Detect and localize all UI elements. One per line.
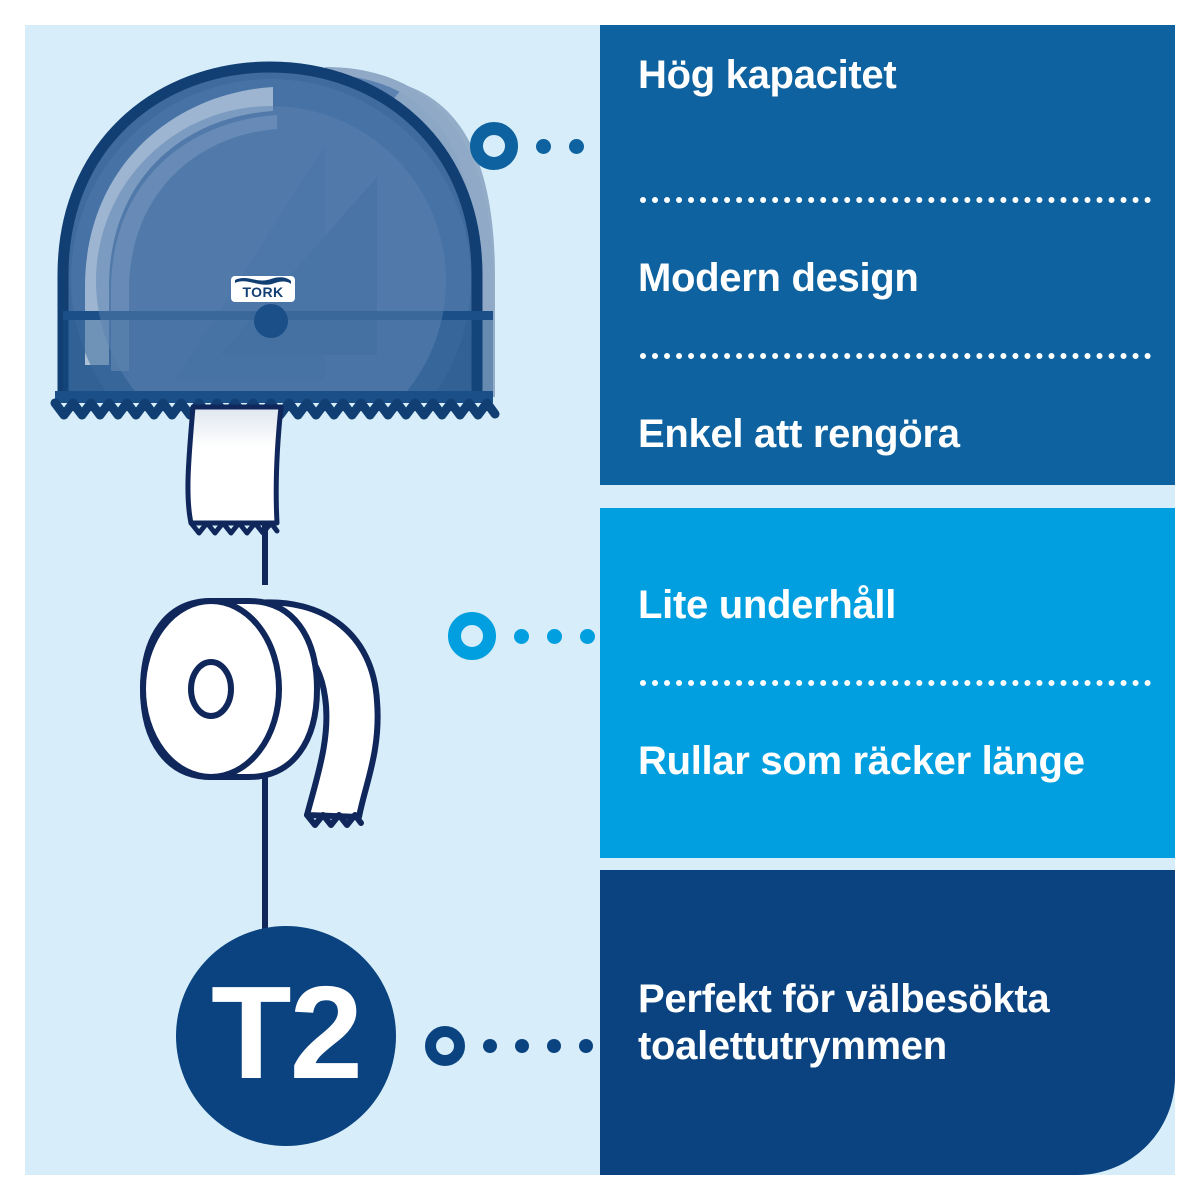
connector-dot bbox=[515, 1039, 529, 1053]
panel-maintenance: Lite underhåll Rullar som räcker länge bbox=[600, 508, 1175, 858]
spacer bbox=[638, 628, 1153, 680]
feature-easy-to-clean: Enkel att rengöra bbox=[638, 411, 1153, 457]
paper-roll-graphic bbox=[143, 601, 378, 825]
dispenser-graphic: TORK bbox=[25, 67, 495, 533]
feature-high-capacity: Hög kapacitet bbox=[638, 52, 1153, 98]
t2-system-badge: T2 bbox=[176, 926, 396, 1146]
connector-dot bbox=[580, 629, 595, 644]
connector-dot bbox=[569, 139, 584, 154]
t2-badge-label: T2 bbox=[211, 967, 361, 1099]
connector-ring-icon bbox=[448, 612, 496, 660]
svg-text:TORK: TORK bbox=[242, 284, 283, 300]
dispensed-sheet bbox=[188, 407, 281, 533]
spacer bbox=[638, 145, 1153, 197]
connector-dot bbox=[514, 629, 529, 644]
feature-long-lasting-rolls: Rullar som räcker länge bbox=[638, 738, 1153, 784]
feature-ideal-for-busy-washrooms: Perfekt för välbesökta toalettutrymmen bbox=[638, 976, 1153, 1069]
spacer bbox=[638, 301, 1153, 353]
connector-ring-icon bbox=[470, 122, 518, 170]
panel-capacity: Hög kapacitet Modern design Enkel att re… bbox=[600, 25, 1175, 485]
spacer bbox=[638, 686, 1153, 738]
connector-dot bbox=[547, 629, 562, 644]
infographic-canvas: TORK bbox=[0, 0, 1200, 1200]
spacer bbox=[638, 203, 1153, 255]
feature-modern-design: Modern design bbox=[638, 255, 1153, 301]
connector-dot bbox=[536, 139, 551, 154]
panel-maintenance-rows: Lite underhåll Rullar som räcker länge bbox=[638, 582, 1153, 785]
connector-dot bbox=[579, 1039, 593, 1053]
panel-usage-rows: Perfekt för välbesökta toalettutrymmen bbox=[638, 976, 1153, 1069]
connector-dot bbox=[483, 1039, 497, 1053]
spacer bbox=[638, 359, 1153, 411]
panel-capacity-rows: Hög kapacitet Modern design Enkel att re… bbox=[638, 52, 1153, 457]
feature-low-maintenance: Lite underhåll bbox=[638, 582, 1153, 628]
connector-dot bbox=[547, 1039, 561, 1053]
panel-usage: Perfekt för välbesökta toalettutrymmen bbox=[600, 870, 1175, 1175]
tork-logo: TORK bbox=[231, 276, 295, 302]
connector-ring-icon bbox=[425, 1026, 465, 1066]
